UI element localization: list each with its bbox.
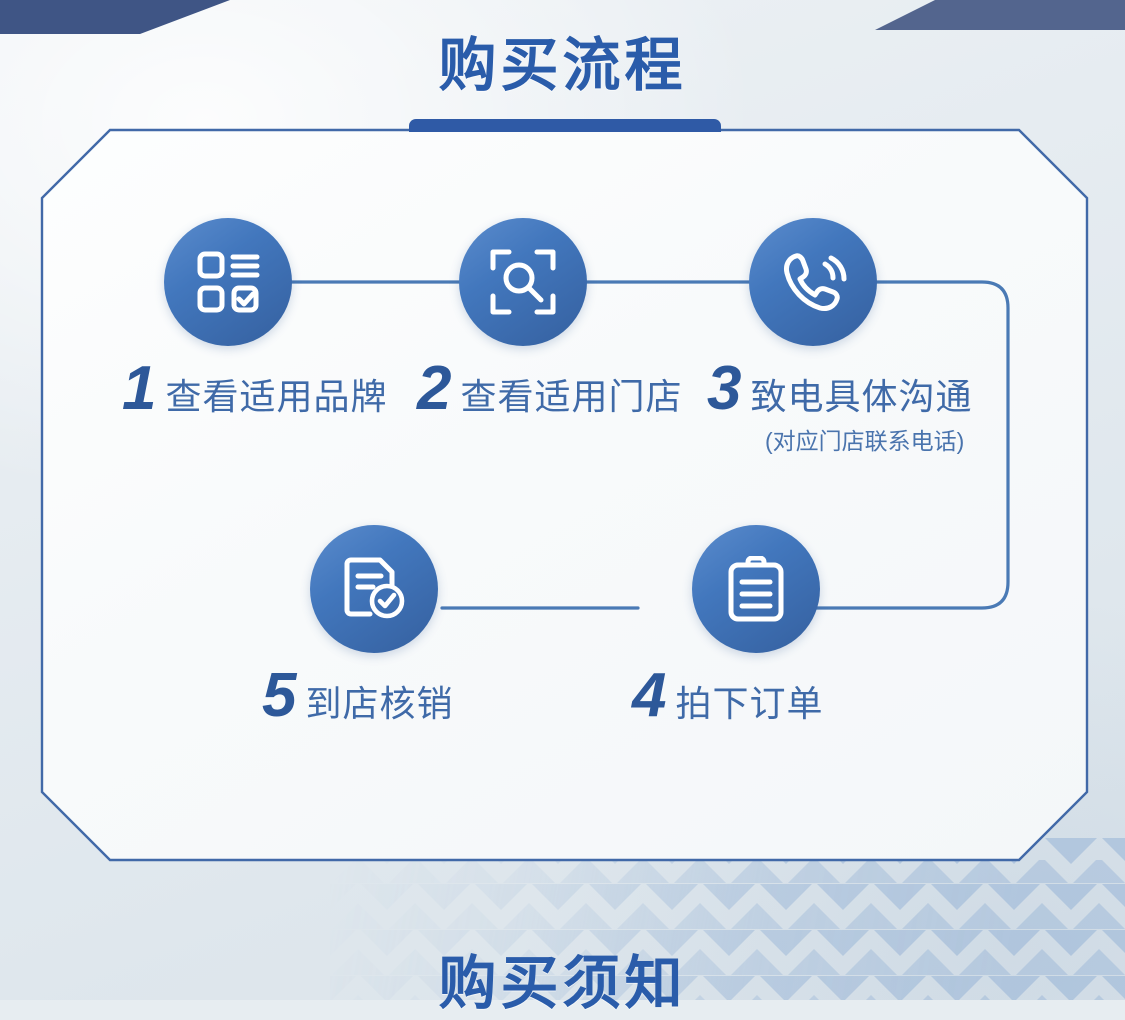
step-4-number: 4 <box>632 667 665 724</box>
step-1-number: 1 <box>122 360 155 417</box>
step-2-caption: 2 查看适用门店 <box>417 360 683 420</box>
flow-step-2[interactable]: 2 查看适用门店 <box>417 218 683 420</box>
step-4-label: 拍下订单 <box>675 675 823 727</box>
step-1-caption: 1 查看适用品牌 <box>122 360 388 420</box>
page-title-purchase-notice: 购买须知 <box>0 936 1125 1020</box>
step-1-icon-circle[interactable] <box>164 218 292 346</box>
step-5-number: 5 <box>262 667 295 724</box>
page-background: 购买流程 <box>0 0 1125 1000</box>
step-4-caption: 4 拍下订单 <box>632 667 824 727</box>
step-3-icon-circle[interactable] <box>749 218 877 346</box>
flow-step-5[interactable]: 5 到店核销 <box>262 525 454 727</box>
step-3-sublabel: (对应门店联系电话) <box>765 422 973 456</box>
grid-checklist-icon <box>194 248 262 316</box>
step-4-icon-circle[interactable] <box>692 525 820 653</box>
scan-search-icon <box>489 248 557 316</box>
page-title-purchase-flow: 购买流程 <box>0 18 1125 102</box>
step-3-caption: 3 致电具体沟通 <box>707 360 973 420</box>
step-3-number: 3 <box>707 360 740 417</box>
clipboard-icon <box>725 556 787 622</box>
purchase-flow-card: 1 查看适用品牌 2 查看适 <box>42 130 1087 860</box>
phone-ringing-icon <box>779 248 847 316</box>
step-5-icon-circle[interactable] <box>310 525 438 653</box>
step-1-label: 查看适用品牌 <box>165 368 387 420</box>
flow-step-3[interactable]: 3 致电具体沟通 (对应门店联系电话) <box>707 218 973 456</box>
step-5-caption: 5 到店核销 <box>262 667 454 727</box>
document-verified-icon <box>340 556 408 622</box>
step-5-label: 到店核销 <box>305 675 453 727</box>
step-2-icon-circle[interactable] <box>459 218 587 346</box>
flow-step-1[interactable]: 1 查看适用品牌 <box>122 218 388 420</box>
step-3-label: 致电具体沟通 <box>750 368 972 420</box>
card-top-tab <box>409 119 721 132</box>
step-2-number: 2 <box>417 360 450 417</box>
flow-step-4[interactable]: 4 拍下订单 <box>632 525 824 727</box>
step-2-label: 查看适用门店 <box>460 368 682 420</box>
